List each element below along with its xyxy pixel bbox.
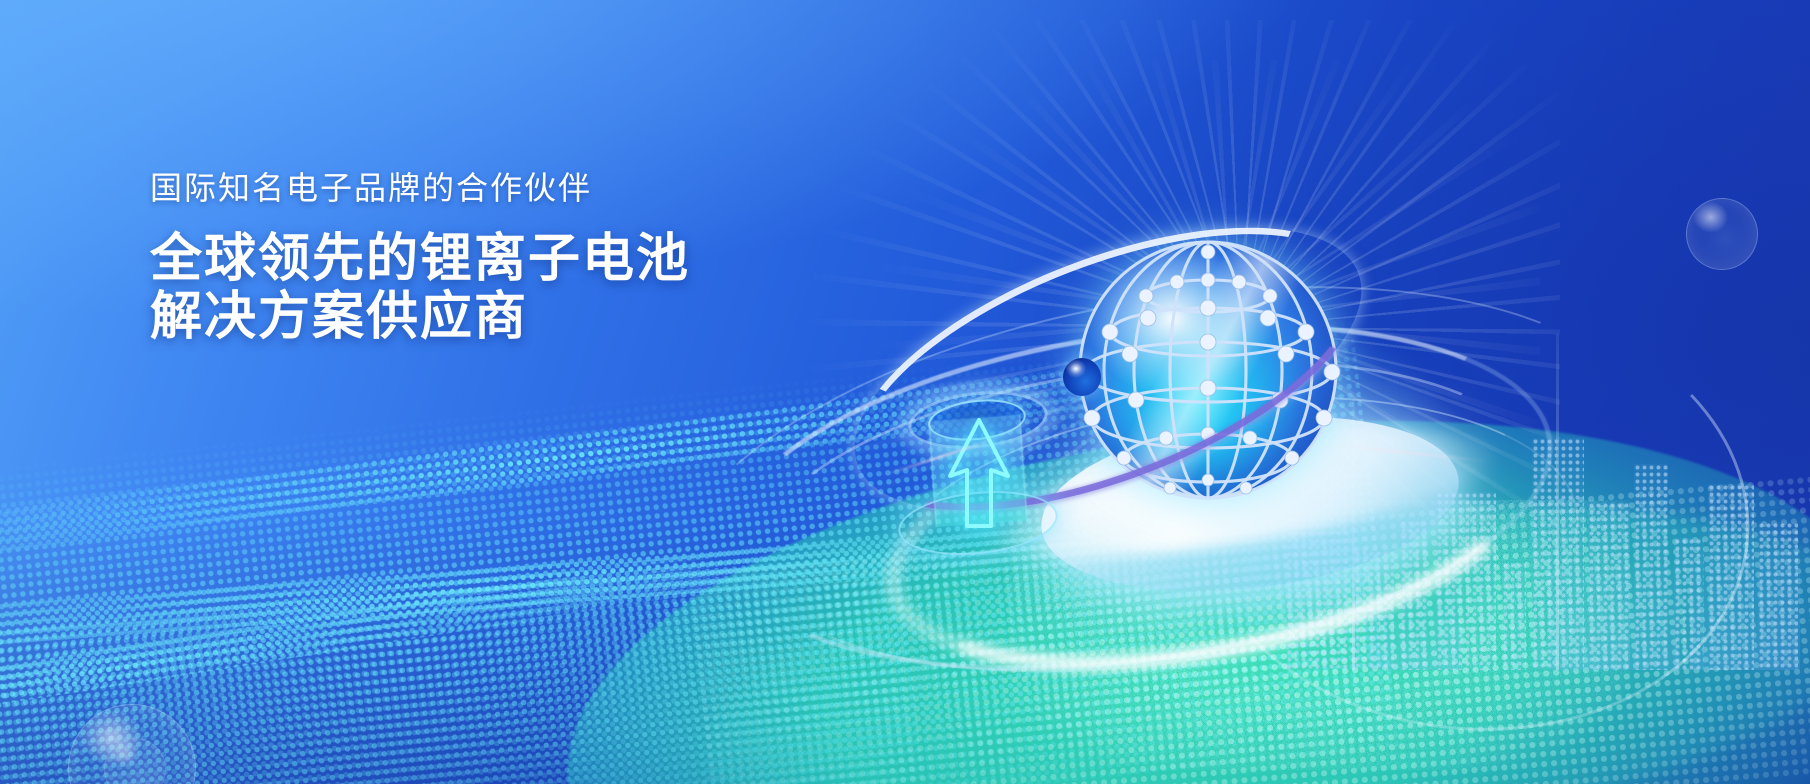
hero-banner: 国际知名电子品牌的合作伙伴 全球领先的锂离子电池 解决方案供应商 [0, 0, 1810, 784]
banner-copy: 国际知名电子品牌的合作伙伴 全球领先的锂离子电池 解决方案供应商 [150, 168, 690, 346]
up-arrow-icon [942, 414, 1016, 532]
orbit-bead-sphere [1063, 358, 1101, 396]
banner-headline: 全球领先的锂离子电池 解决方案供应商 [150, 230, 690, 346]
banner-eyebrow: 国际知名电子品牌的合作伙伴 [150, 168, 690, 208]
headline-line-2: 解决方案供应商 [150, 288, 690, 346]
headline-line-1: 全球领先的锂离子电池 [150, 230, 690, 288]
bubble-top-right [1686, 198, 1758, 270]
skyline-building [1758, 522, 1798, 670]
